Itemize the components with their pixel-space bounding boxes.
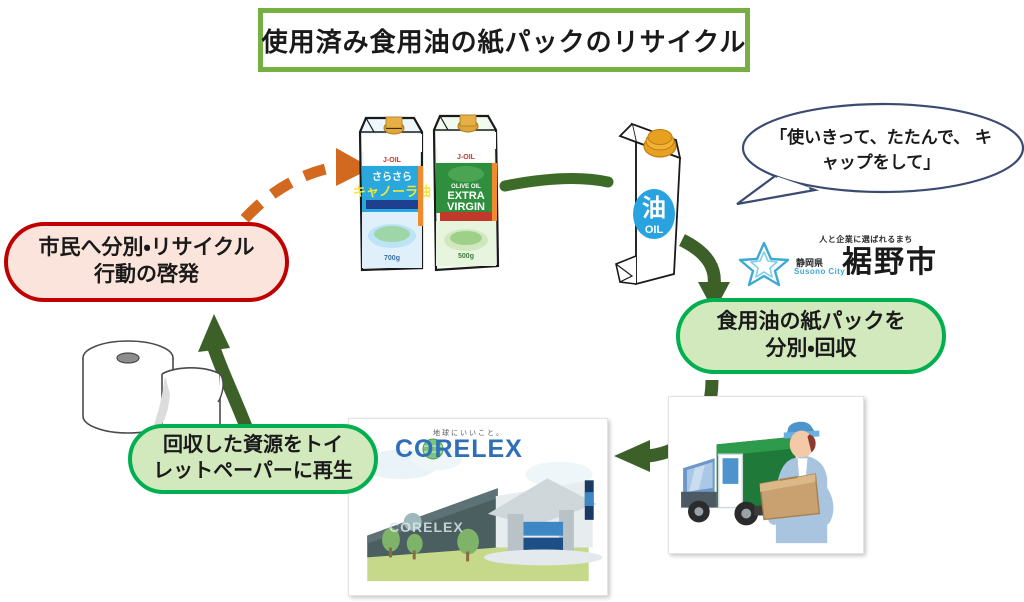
svg-text:さらさら: さらさら bbox=[372, 171, 412, 183]
svg-text:J-OIL: J-OIL bbox=[383, 157, 402, 164]
oil-badge-latin: OIL bbox=[645, 224, 664, 236]
oil-carton-olive: J-OIL OLIVE OIL EXTRA VIRGIN 500g bbox=[434, 115, 498, 270]
speech-bubble-text: 「使いきって、たたんで、 キャップをして」 bbox=[763, 126, 999, 175]
collect-line-2: 分別・回収 bbox=[765, 336, 856, 363]
speech-line-1: 「使いきって、たたんで、 bbox=[770, 128, 970, 147]
svg-text:700g: 700g bbox=[384, 255, 400, 262]
star-icon bbox=[738, 240, 790, 286]
susono-romaji: Susono City bbox=[794, 267, 845, 276]
diagram-canvas: 使用済み食用油の紙パックのリサイクル bbox=[0, 0, 1024, 602]
folded-carton-image: 油 OIL bbox=[602, 106, 714, 294]
node-citizens-awareness[interactable]: 市民へ分別・リサイクル 行動の啓発 bbox=[4, 222, 289, 302]
oil-badge-kanji: 油 bbox=[642, 195, 666, 222]
oil-cartons-image: J-OIL さらさら キャノーラ油 700g J-OIL OLIVE O bbox=[352, 108, 512, 278]
citizens-line-2: 行動の啓発 bbox=[94, 262, 199, 289]
oil-badge: 油 OIL bbox=[633, 189, 675, 239]
svg-text:J-OIL: J-OIL bbox=[457, 154, 476, 161]
recycle-line-1: 回収した資源をトイ bbox=[163, 433, 343, 459]
speech-bubble: 「使いきって、たたんで、 キャップをして」 bbox=[735, 100, 1024, 212]
svg-text:500g: 500g bbox=[458, 253, 474, 260]
node-separate-collect[interactable]: 食用油の紙パックを 分別・回収 bbox=[676, 298, 946, 374]
susono-city-name: 裾野市 bbox=[842, 248, 938, 278]
susono-tagline: 人と企業に選ばれるまち bbox=[798, 234, 934, 245]
arrow-cartons-to-folded bbox=[505, 179, 608, 186]
corelex-factory-card: 地球にいいこと。 CORELEX CORELEX bbox=[348, 418, 608, 596]
collect-line-1: 食用油の紙パックを bbox=[717, 309, 906, 336]
corelex-wall-text: CORELEX bbox=[389, 519, 464, 535]
citizens-line-1: 市民へ分別・リサイクル bbox=[38, 235, 254, 262]
corelex-logo-text: CORELEX bbox=[395, 435, 523, 464]
truck-illustration bbox=[669, 397, 863, 553]
recycle-line-2: レットペーパーに再生 bbox=[153, 459, 353, 485]
oil-carton-canola: J-OIL さらさら キャノーラ油 700g bbox=[353, 117, 431, 270]
susono-city-logo: 人と企業に選ばれるまち 静岡県 Susono City 裾野市 bbox=[738, 234, 934, 290]
collection-truck-card bbox=[668, 396, 864, 554]
node-recycle-to-toilet-paper[interactable]: 回収した資源をトイ レットペーパーに再生 bbox=[128, 424, 378, 494]
svg-text:VIRGIN: VIRGIN bbox=[447, 201, 485, 213]
